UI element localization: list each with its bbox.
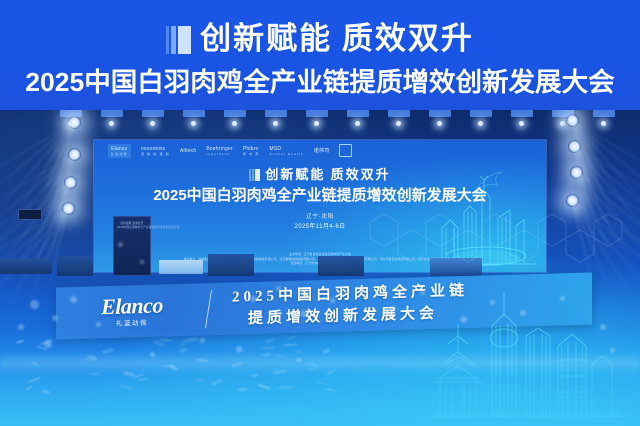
- bokeh-dot: [520, 310, 526, 316]
- ceiling-lamp: [232, 121, 237, 126]
- bokeh-dot: [420, 290, 425, 295]
- truss-bar: [511, 110, 533, 117]
- truss-bar: [593, 110, 615, 117]
- sponsor-logo: BoehringerIngelheim: [206, 145, 232, 157]
- ceiling-lamp: [109, 121, 114, 126]
- bokeh-dot: [276, 286, 281, 291]
- ceiling-lamp: [478, 121, 483, 126]
- accent-bars-icon: [249, 169, 260, 181]
- podium-subtitle: 2025中国白羽肉鸡全产业链提质增效创新发展大会: [117, 226, 147, 230]
- accent-bars-icon: [166, 24, 191, 54]
- conference-news-image: 创新赋能 质效双升 2025中国白羽肉鸡全产业链提质增效创新发展大会 Elanc…: [0, 0, 640, 426]
- sponsor-logo: [339, 144, 352, 157]
- light-fleck: [27, 376, 41, 383]
- light-fleck: [40, 389, 49, 393]
- stage-floor-block: [318, 256, 364, 276]
- truss-bar: [306, 110, 328, 117]
- light-fleck: [26, 386, 33, 391]
- podium-monitor: [18, 209, 42, 220]
- stage-floor-block: [0, 258, 52, 274]
- sponsor-subname: 诺 维 信 诺 和: [141, 152, 170, 156]
- light-fleck: [16, 339, 25, 344]
- led-title-line1: 创新赋能 质效双升: [265, 166, 390, 183]
- header-title-line2: 2025中国白羽肉鸡全产业链提质增效创新发展大会: [25, 65, 614, 99]
- truss-bar: [224, 110, 246, 117]
- ceiling-lamp: [519, 121, 524, 126]
- bokeh-dot: [330, 298, 335, 303]
- bokeh-dot: [118, 242, 123, 247]
- header-title-line1: 创新赋能 质效双升: [200, 20, 474, 58]
- sponsor-subname: Ingelheim: [206, 152, 232, 156]
- ceiling-light-truss: [0, 110, 640, 136]
- light-fleck: [265, 337, 277, 343]
- podium-panel: 创新赋能 质效双升 2025中国白羽肉鸡全产业链提质增效创新发展大会: [117, 222, 147, 230]
- header-line1-row: 创新赋能 质效双升: [166, 18, 474, 60]
- light-fleck: [251, 374, 258, 378]
- sponsor-name: 诺伟司: [314, 148, 330, 154]
- bokeh-dot: [610, 348, 615, 353]
- light-fleck: [119, 383, 134, 389]
- ceiling-lamp: [601, 121, 606, 126]
- elanco-logo: Elanco 礼蓝动保: [72, 290, 192, 333]
- light-fleck: [211, 377, 224, 385]
- truss-bar: [142, 110, 164, 117]
- sponsor-subname: Animal Health: [270, 152, 304, 156]
- sponsor-logo-row: Elanco礼蓝动保novonesis诺 维 信 诺 和AlltechBoehr…: [108, 144, 536, 157]
- truss-bar: [347, 110, 369, 117]
- sponsor-subname: 礼蓝动保: [111, 152, 128, 156]
- header-title-wrap: 创新赋能 质效双升 2025中国白羽肉鸡全产业链提质增效创新发展大会: [0, 18, 640, 99]
- ceiling-lamp: [150, 121, 155, 126]
- ceiling-lamp: [314, 121, 319, 126]
- light-fleck: [288, 335, 297, 339]
- bokeh-dot: [600, 324, 606, 330]
- bokeh-dot: [18, 324, 24, 330]
- truss-bar: [183, 110, 205, 117]
- light-fleck: [138, 377, 147, 382]
- sponsor-logo: novonesis诺 维 信 诺 和: [141, 145, 170, 157]
- bokeh-dot: [460, 316, 467, 323]
- sponsor-logo: Phibro菲 布 罗: [243, 145, 260, 157]
- bokeh-dot: [200, 338, 205, 343]
- ceiling-lamp: [560, 121, 565, 126]
- sponsor-logo: MSDAnimal Health: [270, 145, 304, 157]
- sponsor-subname: 菲 布 罗: [243, 152, 260, 156]
- bokeh-dot: [250, 296, 256, 302]
- floor-reflection-streak: [0, 352, 640, 374]
- truss-bar: [388, 110, 410, 117]
- light-fleck: [260, 346, 276, 349]
- stage-floor-block: [208, 254, 254, 276]
- light-fleck: [88, 372, 100, 375]
- ceiling-lamp: [191, 121, 196, 126]
- bokeh-dot: [560, 296, 565, 301]
- stage-photograph: Elanco礼蓝动保novonesis诺 维 信 诺 和AlltechBoehr…: [0, 110, 640, 426]
- truss-bar: [470, 110, 492, 117]
- sponsor-name: Alltech: [180, 148, 196, 154]
- stage-floor-block: [159, 260, 203, 274]
- elanco-chinese-name: 礼蓝动保: [116, 319, 148, 329]
- light-fleck: [278, 386, 292, 389]
- bokeh-dot: [52, 315, 58, 321]
- banner-divider: [205, 290, 212, 328]
- bokeh-dot: [390, 306, 396, 312]
- ceiling-lamp: [355, 121, 360, 126]
- sponsor-logo: Elanco礼蓝动保: [108, 144, 131, 158]
- header-banner: 创新赋能 质效双升 2025中国白羽肉鸡全产业链提质增效创新发展大会: [0, 0, 640, 112]
- elanco-wordmark: Elanco: [101, 294, 163, 320]
- bokeh-dot: [490, 300, 495, 305]
- bokeh-dot: [300, 310, 307, 317]
- light-fleck: [237, 388, 248, 392]
- light-fleck: [315, 381, 328, 386]
- light-fleck: [180, 341, 185, 345]
- stage-floor-block: [57, 256, 93, 276]
- bokeh-dot: [70, 296, 77, 303]
- bokeh-dot: [30, 300, 39, 309]
- sponsor-logo: Alltech: [180, 145, 196, 157]
- truss-bar: [429, 110, 451, 117]
- ceiling-lamp: [273, 121, 278, 126]
- light-fleck: [196, 378, 204, 382]
- truss-bar: [101, 110, 123, 117]
- light-fleck: [256, 383, 270, 390]
- bokeh-dot: [96, 322, 101, 327]
- bokeh-dot: [140, 260, 144, 264]
- light-fleck: [325, 388, 337, 392]
- truss-bar: [265, 110, 287, 117]
- light-fleck: [283, 344, 297, 347]
- sponsor-logo: 诺伟司: [314, 145, 330, 157]
- ceiling-lamp: [396, 121, 401, 126]
- ceiling-lamp: [437, 121, 442, 126]
- bokeh-dot: [150, 352, 155, 357]
